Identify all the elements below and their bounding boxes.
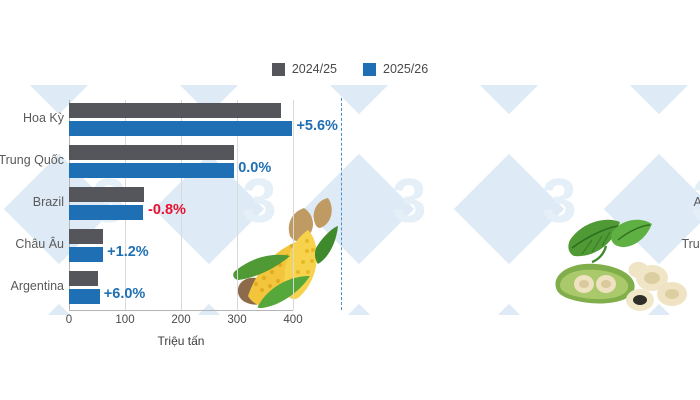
bar-previous-season[interactable] xyxy=(69,229,103,244)
category-label: Argentina xyxy=(627,195,700,209)
bar-previous-season[interactable] xyxy=(69,187,144,202)
bar-previous-season[interactable] xyxy=(69,103,281,118)
gridline xyxy=(293,100,294,310)
x-axis-tick-label: 0 xyxy=(49,314,89,326)
axis-title-corn: Triệu tấn xyxy=(69,334,293,348)
category-label: Ấn Độ xyxy=(627,279,700,293)
legend-label-current: 2025/26 xyxy=(383,62,428,76)
bar-group[interactable]: Argentina+6.0% xyxy=(69,268,293,310)
change-percent-label: +5.6% xyxy=(296,118,338,134)
bar-current-season[interactable] xyxy=(69,247,103,262)
category-label: Trung Quốc xyxy=(0,153,64,167)
panel-divider xyxy=(341,98,342,310)
bar-group[interactable]: Hoa Kỳ+5.6% xyxy=(69,100,293,142)
x-axis-tick-label: 400 xyxy=(273,314,313,326)
bar-group[interactable]: Brazil-0.8% xyxy=(69,184,293,226)
square-swatch-icon xyxy=(272,63,285,76)
plot-area-corn: 0100200300400Hoa Kỳ+5.6%Trung Quốc0.0%Br… xyxy=(69,100,293,310)
square-swatch-icon xyxy=(363,63,376,76)
bar-group[interactable]: Trung Quốc0.0% xyxy=(69,142,293,184)
legend-item-current: 2025/26 xyxy=(363,62,428,76)
legend-item-previous: 2024/25 xyxy=(272,62,337,76)
category-label: Trung Quốc xyxy=(627,237,700,251)
bar-current-season[interactable] xyxy=(69,205,143,220)
category-label: Hoa Kỳ xyxy=(0,111,64,125)
chart-legend: 2024/25 2025/26 xyxy=(0,62,700,76)
category-label: Brazil xyxy=(0,195,64,209)
chart-panel-soybean: 050100150200Brazil+3.6%Hoa Kỳ-0.7%Argent… xyxy=(343,100,700,355)
bar-group[interactable]: Châu Âu+1.2% xyxy=(69,226,293,268)
category-label: Brazil xyxy=(627,111,700,125)
legend-label-previous: 2024/25 xyxy=(292,62,337,76)
change-percent-label: +1.2% xyxy=(107,244,149,260)
bar-current-season[interactable] xyxy=(69,289,100,304)
category-label: Hoa Kỳ xyxy=(627,153,700,167)
change-percent-label: +6.0% xyxy=(104,286,146,302)
x-axis-tick-label: 100 xyxy=(105,314,145,326)
category-label: Argentina xyxy=(0,279,64,293)
bar-current-season[interactable] xyxy=(69,121,292,136)
bar-previous-season[interactable] xyxy=(69,271,98,286)
bar-previous-season[interactable] xyxy=(69,145,234,160)
x-axis-tick-label: 200 xyxy=(161,314,201,326)
chart-panel-corn: 0100200300400Hoa Kỳ+5.6%Trung Quốc0.0%Br… xyxy=(0,100,341,355)
bar-current-season[interactable] xyxy=(69,163,234,178)
category-label: Châu Âu xyxy=(0,237,64,251)
x-axis-tick-label: 300 xyxy=(217,314,257,326)
change-percent-label: -0.8% xyxy=(148,202,186,218)
x-axis-line xyxy=(69,310,293,311)
change-percent-label: 0.0% xyxy=(238,160,271,176)
